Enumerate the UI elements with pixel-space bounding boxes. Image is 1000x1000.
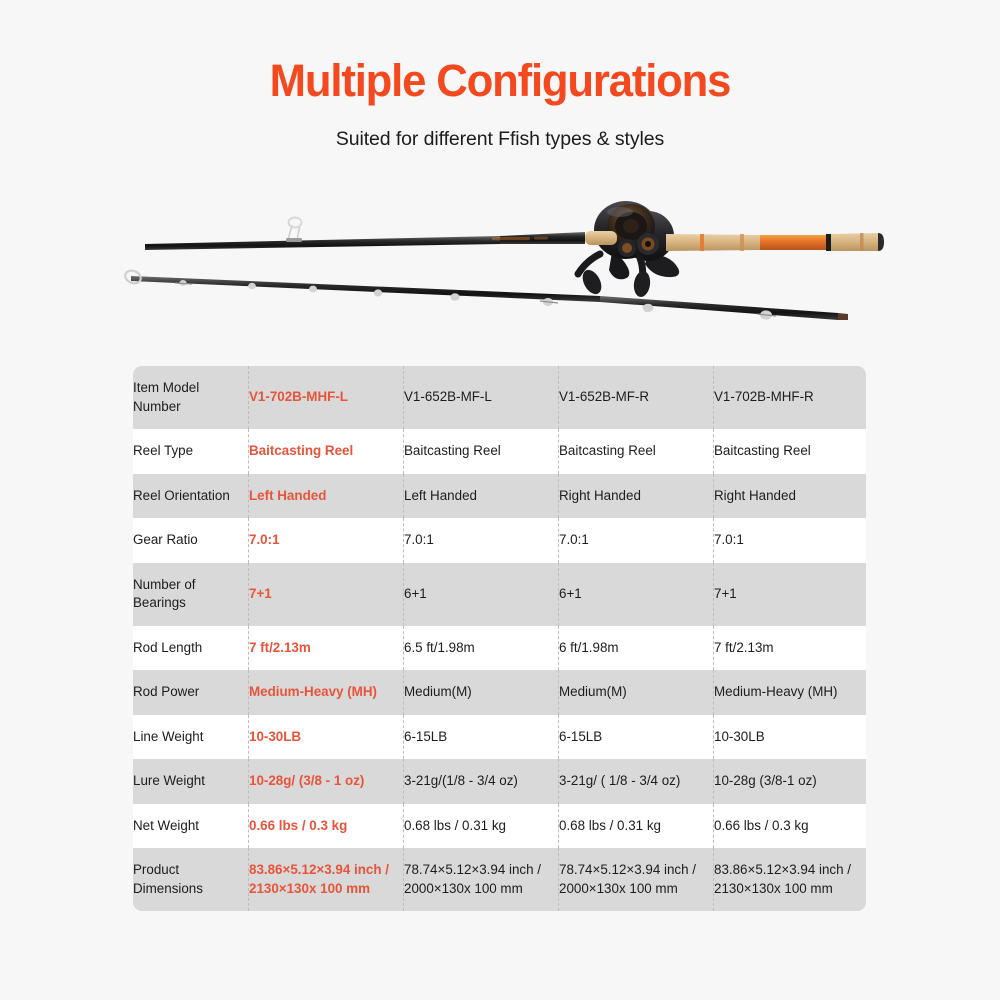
- table-row: Number of Bearings7+16+16+17+1: [133, 563, 866, 626]
- table-cell: 6 ft/1.98m: [559, 626, 714, 671]
- table-cell: Medium-Heavy (MH): [249, 670, 404, 715]
- row-label: Reel Type: [133, 429, 249, 474]
- table-cell: Medium-Heavy (MH): [714, 670, 867, 715]
- table-cell: Right Handed: [714, 474, 867, 519]
- page-subtitle: Suited for different Ffish types & style…: [0, 128, 1000, 151]
- row-label: Rod Power: [133, 670, 249, 715]
- baitcasting-reel: [578, 201, 679, 298]
- table-cell: V1-652B-MF-R: [559, 366, 714, 429]
- row-label: Item Model Number: [133, 366, 249, 429]
- table-cell: Baitcasting Reel: [249, 429, 404, 474]
- page-header: Multiple Configurations Suited for diffe…: [0, 0, 1000, 151]
- table-cell: 6+1: [404, 563, 559, 626]
- product-image: [0, 178, 1000, 346]
- table-cell: 78.74×5.12×3.94 inch / 2000×130x 100 mm: [559, 848, 714, 911]
- row-label: Product Dimensions: [133, 848, 249, 911]
- table-cell: 0.66 lbs / 0.3 kg: [249, 804, 404, 849]
- table-cell: V1-702B-MHF-L: [249, 366, 404, 429]
- table-cell: 0.68 lbs / 0.31 kg: [404, 804, 559, 849]
- table-cell: 7.0:1: [404, 518, 559, 563]
- table-cell: Baitcasting Reel: [404, 429, 559, 474]
- table-cell: 6-15LB: [404, 715, 559, 760]
- table-cell: 7+1: [714, 563, 867, 626]
- table-cell: Medium(M): [559, 670, 714, 715]
- table-cell: Left Handed: [404, 474, 559, 519]
- table-cell: 10-30LB: [249, 715, 404, 760]
- table-cell: 3-21g/(1/8 - 3/4 oz): [404, 759, 559, 804]
- row-label: Line Weight: [133, 715, 249, 760]
- table-cell: 6-15LB: [559, 715, 714, 760]
- line-guide-icon: [288, 218, 302, 241]
- table-cell: V1-702B-MHF-R: [714, 366, 867, 429]
- rod-butt-section: [145, 218, 585, 251]
- table-cell: 7.0:1: [714, 518, 867, 563]
- table-row: Line Weight10-30LB6-15LB6-15LB10-30LB: [133, 715, 866, 760]
- rod-tip-section: [123, 268, 848, 320]
- table-row: Product Dimensions83.86×5.12×3.94 inch /…: [133, 848, 866, 911]
- table-cell: 83.86×5.12×3.94 inch / 2130×130x 100 mm: [714, 848, 867, 911]
- table-row: Net Weight0.66 lbs / 0.3 kg0.68 lbs / 0.…: [133, 804, 866, 849]
- table-row: Gear Ratio7.0:17.0:17.0:17.0:1: [133, 518, 866, 563]
- table-cell: 3-21g/ ( 1/8 - 3/4 oz): [559, 759, 714, 804]
- table-cell: 10-28g (3/8-1 oz): [714, 759, 867, 804]
- table-cell: 10-30LB: [714, 715, 867, 760]
- table-cell: Left Handed: [249, 474, 404, 519]
- specification-table: Item Model NumberV1-702B-MHF-LV1-652B-MF…: [133, 366, 866, 911]
- table-cell: 0.66 lbs / 0.3 kg: [714, 804, 867, 849]
- spec-table-body: Item Model NumberV1-702B-MHF-LV1-652B-MF…: [133, 366, 866, 911]
- table-cell: 83.86×5.12×3.94 inch / 2130×130x 100 mm: [249, 848, 404, 911]
- spec-table: Item Model NumberV1-702B-MHF-LV1-652B-MF…: [133, 366, 866, 911]
- table-row: Reel TypeBaitcasting ReelBaitcasting Ree…: [133, 429, 866, 474]
- table-cell: Baitcasting Reel: [714, 429, 867, 474]
- table-cell: Medium(M): [404, 670, 559, 715]
- table-cell: 7 ft/2.13m: [249, 626, 404, 671]
- row-label: Gear Ratio: [133, 518, 249, 563]
- page-title: Multiple Configurations: [15, 56, 985, 106]
- table-cell: 7.0:1: [559, 518, 714, 563]
- table-row: Rod PowerMedium-Heavy (MH)Medium(M)Mediu…: [133, 670, 866, 715]
- table-cell: Right Handed: [559, 474, 714, 519]
- table-cell: 7.0:1: [249, 518, 404, 563]
- table-row: Lure Weight10-28g/ (3/8 - 1 oz)3-21g/(1/…: [133, 759, 866, 804]
- table-cell: 6+1: [559, 563, 714, 626]
- row-label: Reel Orientation: [133, 474, 249, 519]
- table-row: Item Model NumberV1-702B-MHF-LV1-652B-MF…: [133, 366, 866, 429]
- table-cell: 78.74×5.12×3.94 inch / 2000×130x 100 mm: [404, 848, 559, 911]
- row-label: Net Weight: [133, 804, 249, 849]
- table-cell: 0.68 lbs / 0.31 kg: [559, 804, 714, 849]
- table-cell: 7 ft/2.13m: [714, 626, 867, 671]
- table-cell: 10-28g/ (3/8 - 1 oz): [249, 759, 404, 804]
- orange-blank: [760, 235, 828, 250]
- table-cell: 6.5 ft/1.98m: [404, 626, 559, 671]
- table-row: Rod Length7 ft/2.13m6.5 ft/1.98m6 ft/1.9…: [133, 626, 866, 671]
- table-cell: V1-652B-MF-L: [404, 366, 559, 429]
- row-label: Number of Bearings: [133, 563, 249, 626]
- row-label: Lure Weight: [133, 759, 249, 804]
- table-row: Reel OrientationLeft HandedLeft HandedRi…: [133, 474, 866, 519]
- row-label: Rod Length: [133, 626, 249, 671]
- table-cell: Baitcasting Reel: [559, 429, 714, 474]
- table-cell: 7+1: [249, 563, 404, 626]
